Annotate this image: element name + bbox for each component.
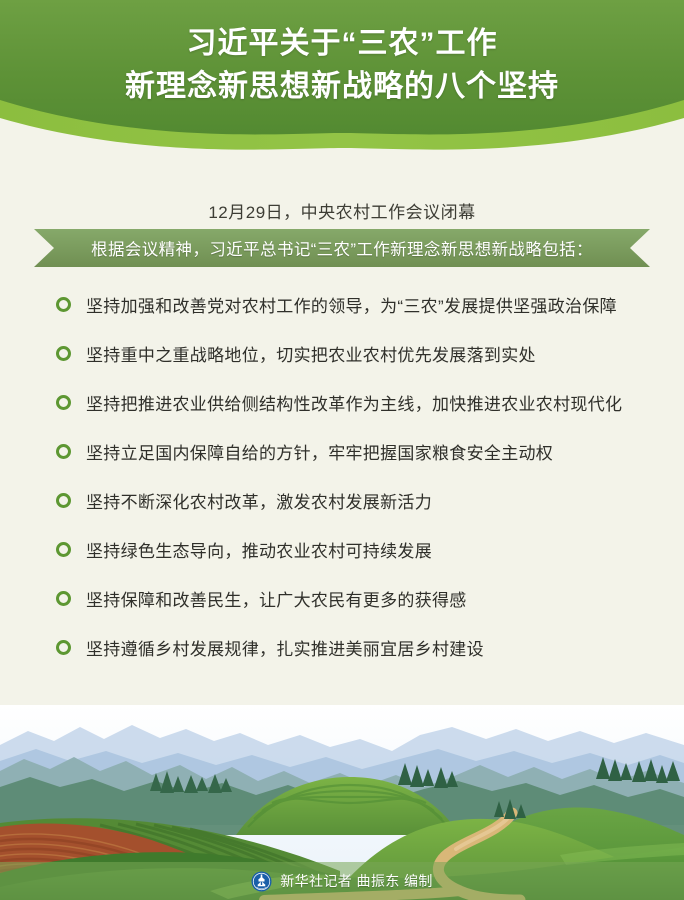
list-item-text: 坚持加强和改善党对农村工作的领导，为“三农”发展提供坚强政治保障 <box>86 292 617 321</box>
summary-ribbon: 根据会议精神，习近平总书记“三农”工作新理念新思想新战略包括： <box>34 229 650 267</box>
list-item: 坚持把推进农业供给侧结构性改革作为主线，加快推进农业农村现代化 <box>56 390 656 419</box>
list-item-text: 坚持不断深化农村改革，激发农村发展新活力 <box>86 488 432 517</box>
ring-bullet-icon <box>56 395 71 410</box>
xinhua-logo-icon <box>251 871 272 892</box>
list-item: 坚持重中之重战略地位，切实把农业农村优先发展落到实处 <box>56 341 656 370</box>
list-item-text: 坚持遵循乡村发展规律，扎实推进美丽宜居乡村建设 <box>86 635 484 664</box>
list-item: 坚持绿色生态导向，推动农业农村可持续发展 <box>56 537 656 566</box>
ring-bullet-icon <box>56 444 71 459</box>
list-item-text: 坚持重中之重战略地位，切实把农业农村优先发展落到实处 <box>86 341 536 370</box>
header-banner: 习近平关于“三农”工作 新理念新思想新战略的八个坚持 <box>0 0 684 165</box>
list-item: 坚持保障和改善民生，让广大农民有更多的获得感 <box>56 586 656 615</box>
list-item: 坚持不断深化农村改革，激发农村发展新活力 <box>56 488 656 517</box>
list-item-text: 坚持把推进农业供给侧结构性改革作为主线，加快推进农业农村现代化 <box>86 390 622 419</box>
list-item: 坚持加强和改善党对农村工作的领导，为“三农”发展提供坚强政治保障 <box>56 292 656 321</box>
list-item-text: 坚持绿色生态导向，推动农业农村可持续发展 <box>86 537 432 566</box>
list-item-text: 坚持立足国内保障自给的方针，牢牢把握国家粮食安全主动权 <box>86 439 553 468</box>
infographic-poster: 习近平关于“三农”工作 新理念新思想新战略的八个坚持 12月29日，中央农村工作… <box>0 0 684 900</box>
ribbon-shape <box>34 229 650 267</box>
list-item: 坚持立足国内保障自给的方针，牢牢把握国家粮食安全主动权 <box>56 439 656 468</box>
meeting-date-subtitle: 12月29日，中央农村工作会议闭幕 <box>0 198 684 223</box>
ring-bullet-icon <box>56 493 71 508</box>
footer-credit-text: 新华社记者 曲振东 编制 <box>280 871 433 891</box>
ring-bullet-icon <box>56 640 71 655</box>
list-item-text: 坚持保障和改善民生，让广大农民有更多的获得感 <box>86 586 467 615</box>
footer-credit-bar: 新华社记者 曲振东 编制 <box>0 862 684 900</box>
list-item: 坚持遵循乡村发展规律，扎实推进美丽宜居乡村建设 <box>56 635 656 664</box>
header-curve-graphic <box>0 0 684 165</box>
ring-bullet-icon <box>56 346 71 361</box>
ring-bullet-icon <box>56 591 71 606</box>
ring-bullet-icon <box>56 297 71 312</box>
ring-bullet-icon <box>56 542 71 557</box>
principles-list: 坚持加强和改善党对农村工作的领导，为“三农”发展提供坚强政治保障 坚持重中之重战… <box>56 292 656 684</box>
xinhua-emblem <box>251 871 272 892</box>
